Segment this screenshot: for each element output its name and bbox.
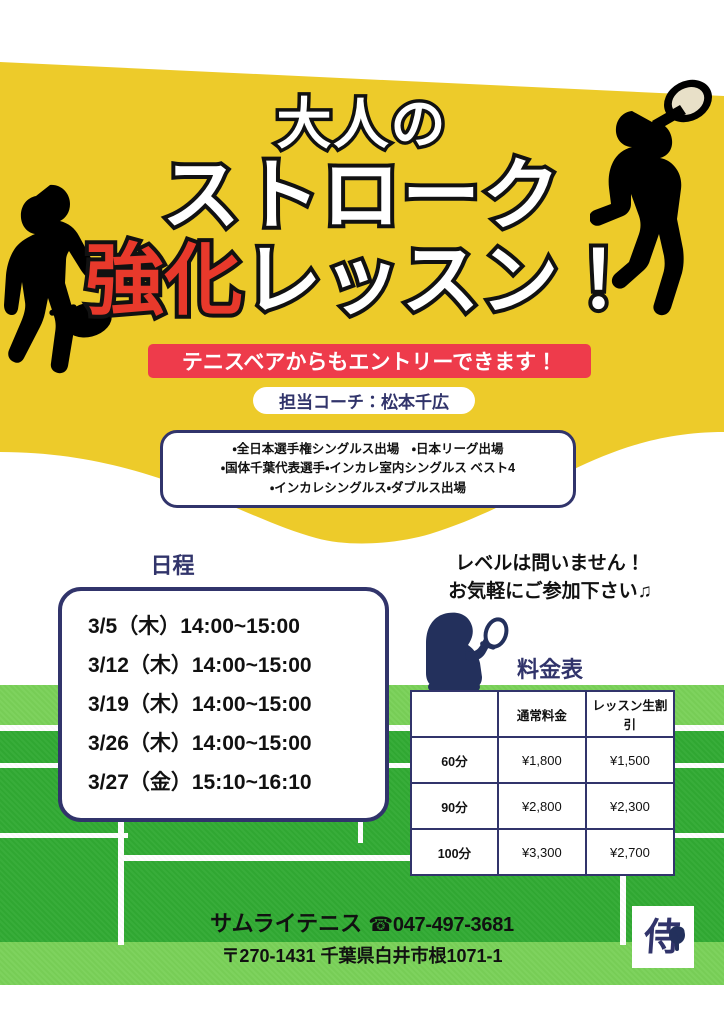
- entry-banner-label: テニスベアからもエントリーできます！: [182, 346, 557, 376]
- price-duration: 100分: [411, 829, 498, 875]
- footer-shop-name: サムライテニス: [210, 911, 362, 936]
- price-table-header-row: 通常料金 レッスン生割引: [411, 691, 674, 737]
- schedule-item: 3/12（木）14:00~15:00: [88, 646, 385, 685]
- footer-telephone[interactable]: ☎047-497-3681: [368, 914, 514, 936]
- price-table-row: 60分 ¥1,800 ¥1,500: [411, 737, 674, 783]
- achievement-line: ・全日本選手権シングルス出場 ・日本リーグ出場: [232, 440, 503, 459]
- footer-shop-line: サムライテニス ☎047-497-3681: [0, 906, 724, 938]
- schedule-heading: 日程: [0, 548, 345, 580]
- price-discount: ¥1,500: [586, 737, 674, 783]
- price-discount: ¥2,700: [586, 829, 674, 875]
- schedule-list: 3/5（木）14:00~15:00 3/12（木）14:00~15:00 3/1…: [88, 607, 385, 802]
- coach-badge-label: 担当コーチ：松本千広: [279, 388, 449, 413]
- coach-badge: 担当コーチ：松本千広: [253, 387, 475, 414]
- price-discount: ¥2,300: [586, 783, 674, 829]
- price-duration: 60分: [411, 737, 498, 783]
- schedule-item: 3/19（木）14:00~15:00: [88, 685, 385, 724]
- coach-achievements-box: ・全日本選手権シングルス出場 ・日本リーグ出場 ・国体千葉代表選手・インカレ室内…: [160, 430, 576, 508]
- price-table: 通常料金 レッスン生割引 60分 ¥1,800 ¥1,500 90分 ¥2,80…: [410, 690, 675, 876]
- schedule-box: 3/5（木）14:00~15:00 3/12（木）14:00~15:00 3/1…: [58, 587, 389, 822]
- title-highlight-kyouka: 強化: [85, 236, 243, 324]
- entry-banner[interactable]: テニスベアからもエントリーできます！: [148, 344, 591, 378]
- level-message-line-1: レベルは問いません！: [405, 550, 695, 578]
- price-normal: ¥1,800: [498, 737, 586, 783]
- tennis-racket-icon: [667, 926, 687, 957]
- achievement-line: ・国体千葉代表選手・インカレ室内シングルス ベスト4: [221, 459, 515, 478]
- price-col-discount: レッスン生割引: [586, 691, 674, 737]
- samurai-tennis-logo: 侍: [632, 906, 694, 968]
- footer-address: 〒270-1431 千葉県白井市根1071-1: [0, 942, 724, 968]
- poster-canvas: 大人の ストローク 強化レッスン！ テニスベアからもエントリーできます！ 担当コ…: [0, 0, 724, 1024]
- title-line-1: 大人の: [0, 96, 724, 152]
- price-normal: ¥3,300: [498, 829, 586, 875]
- price-col-normal: 通常料金: [498, 691, 586, 737]
- price-table-row: 100分 ¥3,300 ¥2,700: [411, 829, 674, 875]
- title-line-3: 強化レッスン！: [0, 239, 724, 322]
- title-line-2: ストローク: [0, 154, 724, 237]
- price-normal: ¥2,800: [498, 783, 586, 829]
- schedule-item: 3/26（木）14:00~15:00: [88, 724, 385, 763]
- schedule-item: 3/5（木）14:00~15:00: [88, 607, 385, 646]
- price-heading: 料金表: [460, 652, 640, 684]
- price-col-blank: [411, 691, 498, 737]
- poster-title: 大人の ストローク 強化レッスン！: [0, 96, 724, 321]
- level-message-line-2: お気軽にご参加下さい♫: [405, 578, 695, 606]
- price-duration: 90分: [411, 783, 498, 829]
- schedule-item: 3/27（金）15:10~16:10: [88, 763, 385, 802]
- achievement-line: ・インカレシングルス・ダブルス出場: [270, 479, 466, 498]
- title-rest-lesson: レッスン！: [244, 236, 639, 324]
- level-message: レベルは問いません！ お気軽にご参加下さい♫: [405, 550, 695, 605]
- price-table-row: 90分 ¥2,800 ¥2,300: [411, 783, 674, 829]
